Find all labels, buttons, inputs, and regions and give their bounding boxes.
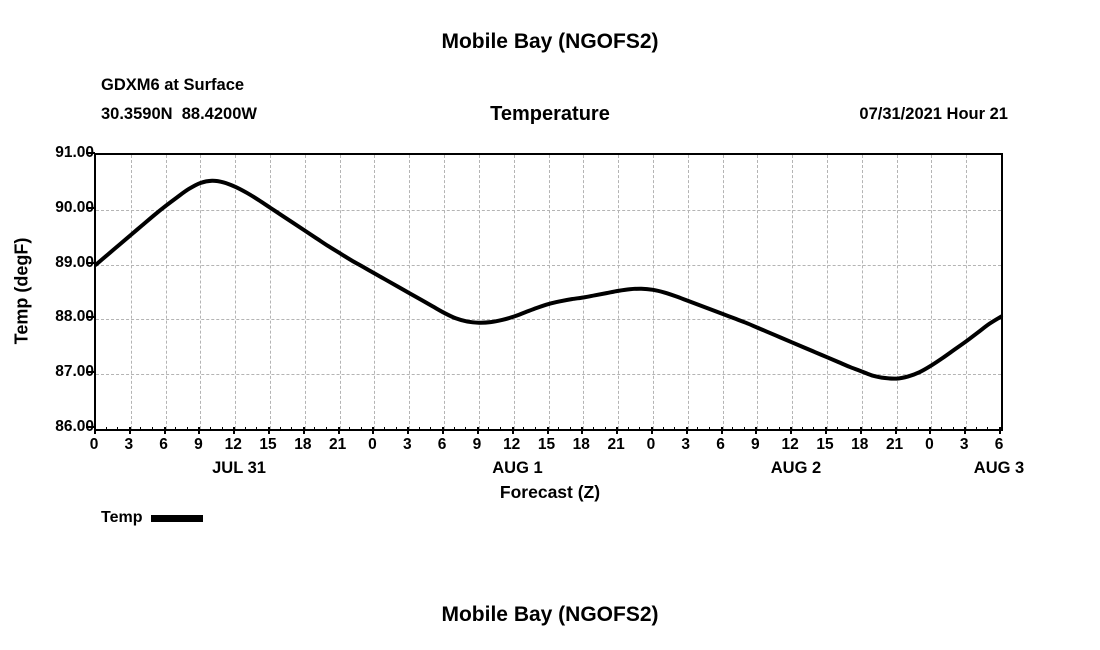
x-axis-tick-minor: [465, 427, 466, 431]
x-axis-tick-major: [303, 427, 305, 434]
x-axis-tick-minor: [732, 427, 733, 431]
x-axis-tick-minor: [593, 427, 594, 431]
x-axis-tick-major: [198, 427, 200, 434]
x-axis-tick-minor: [848, 427, 849, 431]
x-axis-tick-minor: [140, 427, 141, 431]
x-axis-tick-minor: [663, 427, 664, 431]
y-axis-tick-label: 91.00: [4, 144, 94, 162]
x-axis-tick-label: 0: [368, 436, 377, 454]
x-axis-tick-label: 3: [124, 436, 133, 454]
x-axis-tick-label: 6: [438, 436, 447, 454]
x-axis-tick-major: [547, 427, 549, 434]
x-axis-tick-minor: [709, 427, 710, 431]
x-axis-tick-minor: [697, 427, 698, 431]
x-axis-tick-minor: [314, 427, 315, 431]
x-axis-tick-minor: [454, 427, 455, 431]
x-axis-tick-minor: [987, 427, 988, 431]
x-axis-tick-minor: [187, 427, 188, 431]
x-axis-tick-label: 18: [851, 436, 868, 454]
x-axis-tick-major: [964, 427, 966, 434]
x-axis-day-label: AUG 1: [492, 459, 542, 478]
legend-label: Temp: [101, 509, 142, 527]
x-axis-tick-major: [512, 427, 514, 434]
x-axis-tick-major: [442, 427, 444, 434]
page-title-bottom: Mobile Bay (NGOFS2): [0, 603, 1100, 627]
x-axis-tick-minor: [106, 427, 107, 431]
temp-series-line: [96, 181, 1001, 379]
x-axis-tick-major: [94, 427, 96, 434]
y-axis-title-wrap: Temp (degF): [0, 153, 44, 428]
x-axis-tick-minor: [941, 427, 942, 431]
station-label: GDXM6 at Surface: [101, 76, 244, 95]
x-axis-tick-minor: [175, 427, 176, 431]
x-axis-tick-label: 0: [90, 436, 99, 454]
x-axis-tick-minor: [802, 427, 803, 431]
x-axis-tick-major: [372, 427, 374, 434]
x-axis-tick-label: 12: [225, 436, 242, 454]
x-axis-tick-major: [686, 427, 688, 434]
x-axis-tick-label: 0: [647, 436, 656, 454]
x-axis-tick-major: [929, 427, 931, 434]
x-axis-tick-minor: [744, 427, 745, 431]
x-axis-tick-major: [755, 427, 757, 434]
legend: Temp: [101, 509, 203, 527]
x-axis-tick-minor: [430, 427, 431, 431]
x-axis-tick-label: 18: [294, 436, 311, 454]
x-axis-tick-minor: [523, 427, 524, 431]
x-axis-tick-label: 21: [886, 436, 903, 454]
x-axis-tick-minor: [871, 427, 872, 431]
x-axis-tick-label: 21: [329, 436, 346, 454]
x-axis-tick-minor: [918, 427, 919, 431]
x-axis-tick-minor: [906, 427, 907, 431]
x-axis-tick-minor: [953, 427, 954, 431]
x-axis-tick-label: 9: [194, 436, 203, 454]
x-axis-tick-major: [407, 427, 409, 434]
x-axis-tick-major: [895, 427, 897, 434]
x-axis-day-label: JUL 31: [212, 459, 266, 478]
x-axis-tick-major: [721, 427, 723, 434]
x-axis-tick-minor: [628, 427, 629, 431]
x-axis-tick-label: 9: [473, 436, 482, 454]
x-axis-tick-minor: [570, 427, 571, 431]
x-axis-tick-label: 15: [816, 436, 833, 454]
x-axis-tick-label: 3: [681, 436, 690, 454]
x-axis-tick-minor: [291, 427, 292, 431]
x-axis-tick-minor: [349, 427, 350, 431]
x-axis-tick-minor: [210, 427, 211, 431]
x-axis-tick-label: 0: [925, 436, 934, 454]
x-axis-tick-minor: [976, 427, 977, 431]
x-axis-tick-major: [129, 427, 131, 434]
y-axis-tick-mark: [86, 371, 95, 373]
valid-time-label: 07/31/2021 Hour 21: [859, 105, 1008, 124]
x-axis-tick-minor: [883, 427, 884, 431]
x-axis-tick-minor: [384, 427, 385, 431]
x-axis-tick-label: 18: [573, 436, 590, 454]
x-axis-tick-minor: [280, 427, 281, 431]
x-axis-tick-minor: [419, 427, 420, 431]
x-axis-tick-major: [999, 427, 1001, 434]
x-axis-tick-minor: [361, 427, 362, 431]
x-axis-tick-label: 12: [503, 436, 520, 454]
page-title-top: Mobile Bay (NGOFS2): [0, 30, 1100, 54]
x-axis-tick-major: [790, 427, 792, 434]
x-axis-tick-minor: [500, 427, 501, 431]
x-axis-tick-minor: [674, 427, 675, 431]
x-axis-tick-major: [860, 427, 862, 434]
x-axis-day-label: AUG 2: [771, 459, 821, 478]
x-axis-tick-major: [616, 427, 618, 434]
x-axis-tick-label: 3: [960, 436, 969, 454]
x-axis-tick-label: 6: [716, 436, 725, 454]
chart-page: Mobile Bay (NGOFS2) GDXM6 at Surface 30.…: [0, 0, 1100, 650]
x-axis-tick-label: 3: [403, 436, 412, 454]
x-axis-day-label: AUG 3: [974, 459, 1024, 478]
x-axis-tick-minor: [245, 427, 246, 431]
series-layer: [96, 155, 1001, 429]
x-axis-title: Forecast (Z): [0, 482, 1100, 503]
x-axis-tick-minor: [256, 427, 257, 431]
x-axis-tick-major: [338, 427, 340, 434]
x-axis-tick-major: [825, 427, 827, 434]
x-axis-tick-label: 15: [538, 436, 555, 454]
y-axis-tick-mark: [86, 262, 95, 264]
plot-area: [94, 153, 1003, 431]
y-axis-tick-mark: [86, 316, 95, 318]
x-axis-tick-minor: [152, 427, 153, 431]
x-axis-tick-minor: [837, 427, 838, 431]
y-axis-tick-label: 89.00: [4, 254, 94, 272]
y-axis-tick-label: 88.00: [4, 308, 94, 326]
x-axis-tick-label: 21: [607, 436, 624, 454]
x-axis-tick-major: [268, 427, 270, 434]
y-axis-tick-mark: [86, 152, 95, 154]
x-axis-tick-major: [164, 427, 166, 434]
y-axis-tick-label: 87.00: [4, 363, 94, 381]
x-axis-tick-major: [651, 427, 653, 434]
x-axis-tick-minor: [117, 427, 118, 431]
x-axis-tick-major: [233, 427, 235, 434]
x-axis-tick-label: 6: [995, 436, 1004, 454]
x-axis-tick-label: 15: [259, 436, 276, 454]
x-axis-tick-minor: [535, 427, 536, 431]
x-axis-tick-minor: [558, 427, 559, 431]
x-axis-tick-minor: [767, 427, 768, 431]
x-axis-tick-minor: [222, 427, 223, 431]
x-axis-tick-label: 12: [782, 436, 799, 454]
x-axis-tick-minor: [639, 427, 640, 431]
x-axis-tick-minor: [605, 427, 606, 431]
x-axis-tick-minor: [326, 427, 327, 431]
y-axis-tick-label: 90.00: [4, 199, 94, 217]
x-axis-tick-label: 9: [751, 436, 760, 454]
x-axis-tick-minor: [813, 427, 814, 431]
x-axis-tick-minor: [396, 427, 397, 431]
y-axis-tick-label: 86.00: [4, 418, 94, 436]
x-axis-tick-minor: [488, 427, 489, 431]
x-axis-tick-major: [477, 427, 479, 434]
legend-swatch-temp: [151, 515, 203, 522]
x-axis-tick-major: [581, 427, 583, 434]
y-axis-tick-mark: [86, 207, 95, 209]
x-axis-tick-label: 6: [159, 436, 168, 454]
x-axis-tick-minor: [779, 427, 780, 431]
